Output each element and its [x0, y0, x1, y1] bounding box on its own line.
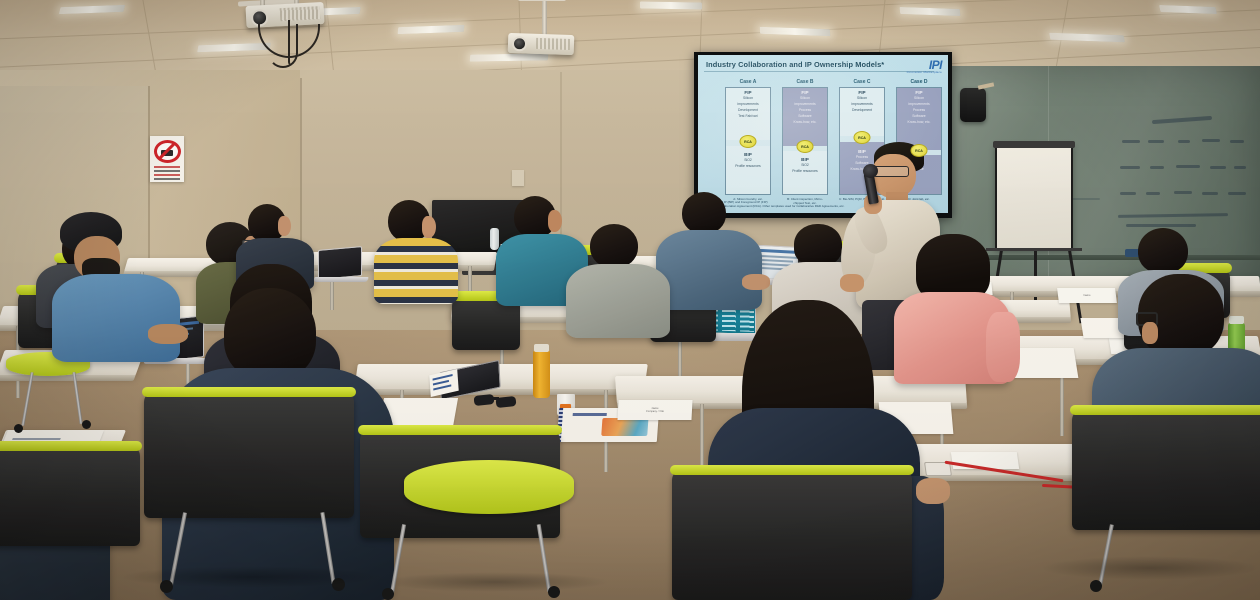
- board-writing: [1210, 166, 1226, 169]
- ceiling-projector-right: [508, 34, 574, 54]
- fip-title: FIP: [783, 88, 827, 95]
- board-writing: [1120, 192, 1136, 195]
- slide-footnotes: * Background IP (BIP) and Foreground IP …: [705, 200, 844, 209]
- case-label: Case C: [839, 79, 885, 85]
- fip-line: Development: [840, 107, 884, 113]
- board-writing: [1178, 140, 1190, 143]
- board-writing: [1126, 224, 1196, 227]
- board-writing: [1230, 140, 1244, 143]
- board-writing: [1174, 191, 1192, 194]
- presenter-hand-left: [840, 274, 864, 292]
- chair-seat-front-center[interactable]: [404, 460, 574, 514]
- board-writing: [1202, 192, 1218, 195]
- eyeglasses: [873, 166, 909, 177]
- board-writing: [1122, 140, 1140, 143]
- juice-bottle-orange[interactable]: [533, 350, 550, 398]
- case-box: FIP Silicon improvements Process Softwar…: [782, 87, 828, 195]
- fip-line: Know-how, etc.: [897, 119, 941, 125]
- seminar-room-photo: Industry Collaboration and IP Ownership …: [0, 0, 1260, 600]
- hand: [916, 478, 950, 504]
- chair-front-left[interactable]: [144, 392, 354, 518]
- board-writing: [1228, 192, 1246, 195]
- name-tent-card: NameCompany / Title: [617, 400, 692, 420]
- flipchart-clamp: [993, 141, 1075, 148]
- ceiling-light-6: [640, 1, 702, 9]
- wall-outlet: [512, 170, 524, 186]
- rca-node: RCA: [911, 144, 928, 157]
- striped-shirt: [374, 238, 458, 304]
- case-box: FIP Silicon improvements Development Tes…: [725, 87, 771, 195]
- chair-caster: [1090, 580, 1102, 592]
- board-writing: [1150, 166, 1164, 169]
- board-writing: [1120, 166, 1140, 169]
- board-writing: [1202, 139, 1220, 142]
- fip-title: FIP: [840, 88, 884, 95]
- flipchart-crossbar: [986, 248, 1082, 251]
- floor-shadow: [1040, 556, 1260, 580]
- ceiling-light-5: [470, 53, 549, 61]
- water-bottle-clear[interactable]: [490, 228, 499, 250]
- projector-vent: [536, 38, 570, 50]
- slide-case-column: Case B FIP Silicon improvements Process …: [782, 79, 828, 205]
- floor-shadow: [380, 572, 610, 592]
- ceiling-projector-left: [246, 4, 324, 26]
- fip-line: Know-how, etc.: [783, 119, 827, 125]
- slide-title: Industry Collaboration and IP Ownership …: [706, 60, 884, 69]
- fip-title: FIP: [726, 88, 770, 95]
- chair-caster: [14, 424, 23, 433]
- slide-title-rule: [704, 71, 934, 72]
- rca-node: RCA: [854, 131, 871, 144]
- chair-caster: [82, 420, 91, 429]
- board-writing: [1148, 140, 1164, 143]
- board-writing: [1176, 165, 1200, 168]
- laptop-back-row[interactable]: [318, 246, 362, 280]
- case-label: Case B: [782, 79, 828, 85]
- no-smoking-icon: [154, 140, 181, 163]
- table-front-center: [354, 364, 648, 390]
- floor-shadow: [120, 566, 380, 588]
- wall-speaker: [960, 88, 986, 122]
- chair-front-center-2[interactable]: [672, 470, 912, 600]
- no-smoking-sign: [150, 136, 184, 182]
- case-label: Case D: [896, 79, 942, 85]
- sunglasses[interactable]: [474, 393, 520, 407]
- flipchart-paper[interactable]: [995, 144, 1073, 250]
- bottle-cap: [534, 344, 549, 352]
- ipi-logo-subtext: Innovation Marketplace: [907, 70, 942, 74]
- sign-text-block: [154, 166, 180, 182]
- board-writing: [1234, 166, 1246, 169]
- board-writing: [1146, 192, 1160, 195]
- rca-node: RCA: [797, 140, 814, 153]
- fip-title: FIP: [897, 88, 941, 95]
- ear: [1142, 322, 1158, 344]
- case-label: Case A: [725, 79, 771, 85]
- bottle-cap: [1229, 316, 1244, 324]
- laptop-keyboard[interactable]: [313, 277, 368, 282]
- slide-case-column: Case A FIP Silicon improvements Developm…: [725, 79, 771, 201]
- pink-shirt-arm: [986, 312, 1020, 382]
- bip-line: Profile resources: [726, 163, 770, 169]
- projector-lens-icon: [512, 36, 528, 52]
- slide-footnote-line: Research Collaboration Agreement (RCA). …: [705, 204, 844, 209]
- fip-line: Test Fab/vari: [726, 113, 770, 119]
- chair-foreground-left[interactable]: [0, 446, 140, 546]
- head: [224, 288, 316, 380]
- bip-line: Profile resources: [783, 168, 827, 174]
- projector-vent: [280, 6, 321, 21]
- name-tent-card: Name: [1057, 288, 1117, 303]
- projector-cable-left-3: [288, 20, 296, 66]
- chair-front-right[interactable]: [1072, 410, 1260, 530]
- rca-node: RCA: [740, 135, 757, 148]
